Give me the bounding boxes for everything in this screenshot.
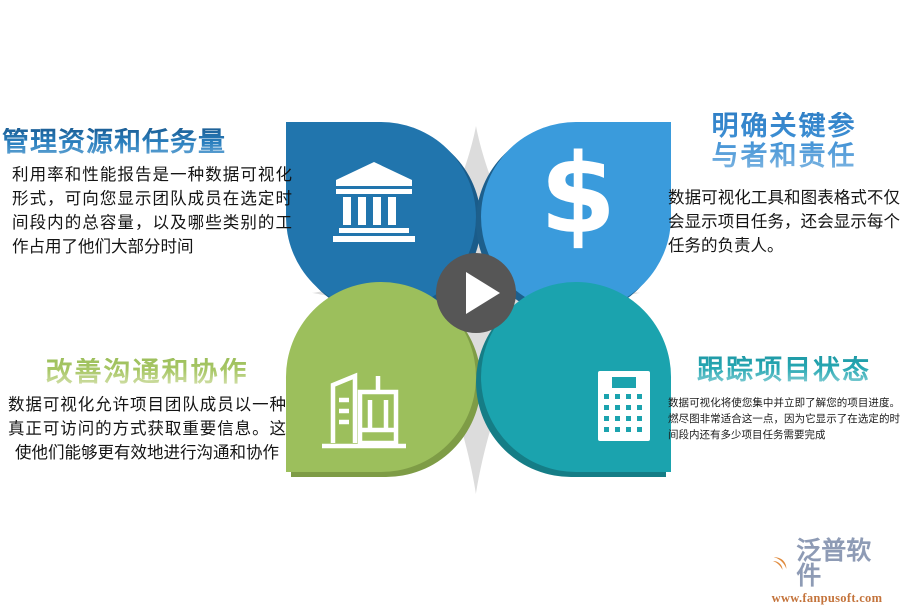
body-manage-resources: 利用率和性能报告是一种数据可视化形式，可向您显示团队成员在选定时间段内的总容量，… xyxy=(2,163,292,259)
infographic-canvas: $ xyxy=(0,0,900,600)
text-block-bottom-right: 跟踪项目状态 数据可视化将使您集中并立即了解您的项目进度。燃尽图非常适合这一点，… xyxy=(668,356,900,443)
text-block-top-right: 明确关键参 与者和责任 数据可视化工具和图表格式不仅会显示项目任务，还会显示每个… xyxy=(668,112,900,258)
heading-clarify-stakeholders: 明确关键参 与者和责任 xyxy=(668,112,900,172)
text-block-top-left: 管理资源和任务量 利用率和性能报告是一种数据可视化形式，可向您显示团队成员在选定… xyxy=(2,128,292,259)
calculator-icon xyxy=(598,371,650,441)
body-track-project-status: 数据可视化将使您集中并立即了解您的项目进度。燃尽图非常适合这一点，因为它显示了在… xyxy=(668,396,900,443)
logo-wordmark: 泛普软件 xyxy=(796,538,894,588)
diagram-stage: $ xyxy=(0,0,900,600)
heading-improve-communication: 改善沟通和协作 xyxy=(2,358,292,388)
body-improve-communication: 数据可视化允许项目团队成员以一种真正可访问的方式获取重要信息。这使他们能够更有效… xyxy=(2,393,292,465)
logo-row: 泛普软件 xyxy=(760,538,894,588)
logo-url: www.fanpusoft.com xyxy=(760,591,894,606)
text-block-bottom-left: 改善沟通和协作 数据可视化允许项目团队成员以一种真正可访问的方式获取重要信息。这… xyxy=(2,358,292,465)
play-button[interactable] xyxy=(436,253,516,333)
dollar-sign-icon: $ xyxy=(540,130,617,258)
fanpu-logo-icon xyxy=(760,548,793,578)
heading-track-project-status: 跟踪项目状态 xyxy=(668,356,900,386)
body-clarify-stakeholders: 数据可视化工具和图表格式不仅会显示项目任务，还会显示每个任务的负责人。 xyxy=(668,186,900,258)
heading-manage-resources: 管理资源和任务量 xyxy=(2,128,292,158)
brand-logo[interactable]: 泛普软件 www.fanpusoft.com xyxy=(760,538,894,588)
